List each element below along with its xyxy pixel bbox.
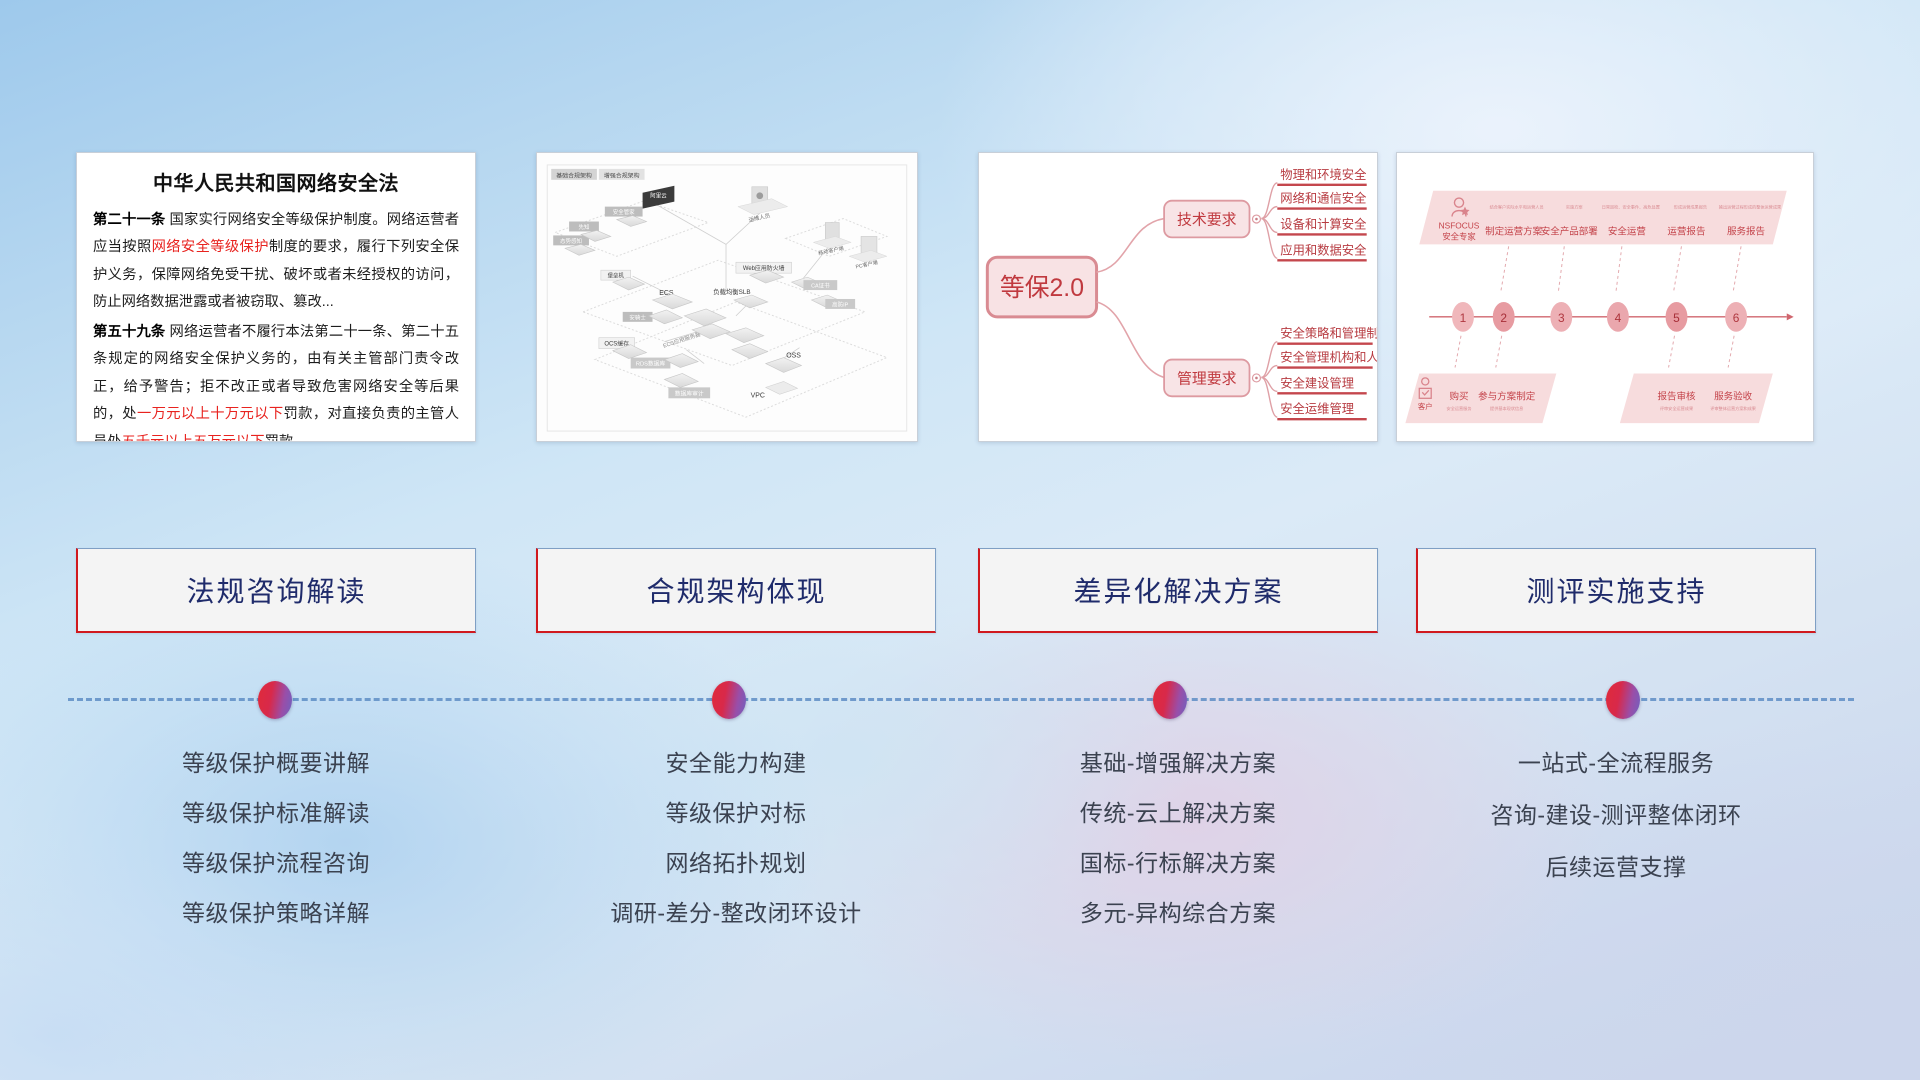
- list-item: 等级保护概要讲解: [76, 752, 476, 775]
- feature-columns: 等级保护概要讲解 等级保护标准解读 等级保护流程咨询 等级保护策略详解 安全能力…: [0, 752, 1920, 1002]
- timeline-dot-4[interactable]: [1606, 681, 1640, 719]
- list-item: 等级保护标准解读: [76, 802, 476, 825]
- list-item: 国标-行标解决方案: [978, 852, 1378, 875]
- timeline-dot-2[interactable]: [712, 681, 746, 719]
- list-item: 后续运营支撑: [1416, 856, 1816, 879]
- list-item: 等级保护对标: [536, 802, 936, 825]
- list-item: 基础-增强解决方案: [978, 752, 1378, 775]
- timeline-dashed-line: [68, 698, 1854, 701]
- feature-column-3: 基础-增强解决方案 传统-云上解决方案 国标-行标解决方案 多元-异构综合方案: [978, 752, 1378, 952]
- list-item: 多元-异构综合方案: [978, 902, 1378, 925]
- list-item: 等级保护流程咨询: [76, 852, 476, 875]
- list-item: 安全能力构建: [536, 752, 936, 775]
- list-item: 一站式-全流程服务: [1416, 752, 1816, 775]
- list-item: 咨询-建设-测评整体闭环: [1416, 804, 1816, 827]
- slide-stage: 中华人民共和国网络安全法 第二十一条 国家实行网络安全等级保护制度。网络运营者应…: [0, 0, 1920, 1080]
- timeline-dot-1[interactable]: [258, 681, 292, 719]
- feature-column-2: 安全能力构建 等级保护对标 网络拓扑规划 调研-差分-整改闭环设计: [536, 752, 936, 952]
- list-item: 等级保护策略详解: [76, 902, 476, 925]
- timeline-dot-3[interactable]: [1153, 681, 1187, 719]
- feature-column-1: 等级保护概要讲解 等级保护标准解读 等级保护流程咨询 等级保护策略详解: [76, 752, 476, 952]
- list-item: 网络拓扑规划: [536, 852, 936, 875]
- list-item: 调研-差分-整改闭环设计: [536, 902, 936, 925]
- feature-column-4: 一站式-全流程服务 咨询-建设-测评整体闭环 后续运营支撑: [1416, 752, 1816, 908]
- list-item: 传统-云上解决方案: [978, 802, 1378, 825]
